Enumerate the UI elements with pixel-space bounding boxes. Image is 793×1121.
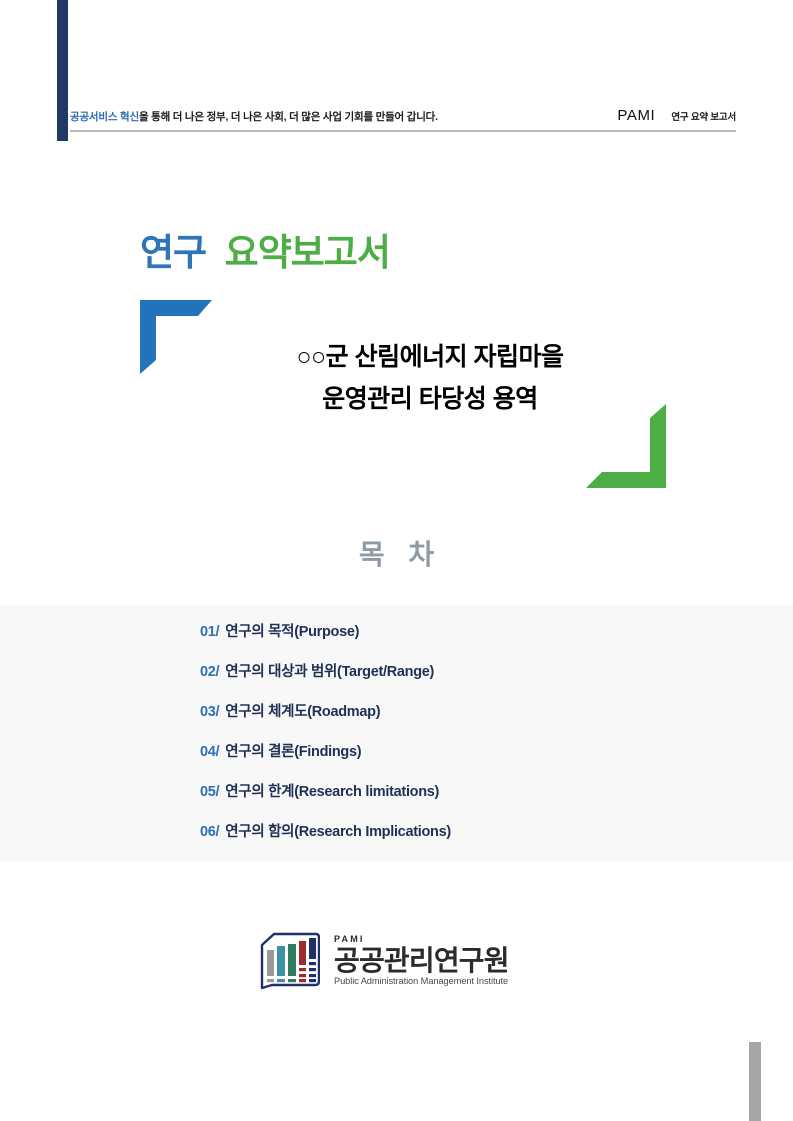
institute-logo-name-ko: 공공관리연구원 xyxy=(334,945,509,976)
header-tagline-highlight: 공공서비스 혁신 xyxy=(70,111,139,123)
toc-item-05[interactable]: 05/ 연구의 한계(Research limitations) xyxy=(200,780,720,820)
toc-item-02[interactable]: 02/ 연구의 대상과 범위(Target/Range) xyxy=(200,660,720,700)
book-shelf-logo-icon xyxy=(258,931,320,991)
header-tagline-rest: 을 통해 더 나은 정부, 더 나은 사회, 더 많은 사업 기회를 만들어 갑… xyxy=(139,111,438,123)
report-cover-page: 공공서비스 혁신을 통해 더 나은 정부, 더 나은 사회, 더 많은 사업 기… xyxy=(0,0,793,1121)
toc-item-01[interactable]: 01/ 연구의 목적(Purpose) xyxy=(200,620,720,660)
institute-logo-text: PAMI 공공관리연구원 Public Administration Manag… xyxy=(334,935,509,987)
toc-item-number: 05/ xyxy=(200,784,219,800)
toc-item-number: 04/ xyxy=(200,744,219,760)
header-divider-rule xyxy=(70,130,736,132)
report-subtitle-line-1: ○○군 산림에너지 자립마을 xyxy=(200,336,660,378)
toc-item-number: 06/ xyxy=(200,824,219,840)
institute-logo: PAMI 공공관리연구원 Public Administration Manag… xyxy=(258,927,538,995)
toc-item-number: 03/ xyxy=(200,704,219,720)
header-brand: PAMI xyxy=(617,107,655,124)
toc-item-label: 연구의 대상과 범위(Target/Range) xyxy=(225,660,434,681)
header-tagline: 공공서비스 혁신을 통해 더 나은 정부, 더 나은 사회, 더 많은 사업 기… xyxy=(70,109,438,124)
header-document-type: 연구 요약 보고서 xyxy=(671,109,736,123)
toc-item-06[interactable]: 06/ 연구의 함의(Research Implications) xyxy=(200,820,720,860)
institute-logo-acronym: PAMI xyxy=(334,935,509,945)
toc-item-03[interactable]: 03/ 연구의 체계도(Roadmap) xyxy=(200,700,720,740)
page-title-green-segment: 요약보고서 xyxy=(225,232,390,273)
toc-item-number: 01/ xyxy=(200,624,219,640)
toc-item-number: 02/ xyxy=(200,664,219,680)
page-edge-tab xyxy=(749,1042,761,1121)
institute-logo-name-en: Public Administration Management Institu… xyxy=(334,976,509,987)
page-title: 연구 요약보고서 xyxy=(140,234,390,271)
header-right-group: PAMI 연구 요약 보고서 xyxy=(617,107,736,124)
toc-item-label: 연구의 함의(Research Implications) xyxy=(225,820,451,841)
toc-list: 01/ 연구의 목적(Purpose) 02/ 연구의 대상과 범위(Targe… xyxy=(200,620,720,860)
toc-heading: 목 차 xyxy=(0,533,793,573)
header-accent-bar xyxy=(57,0,68,141)
page-title-blue-segment: 연구 xyxy=(140,232,206,273)
toc-item-04[interactable]: 04/ 연구의 결론(Findings) xyxy=(200,740,720,780)
header: 공공서비스 혁신을 통해 더 나은 정부, 더 나은 사회, 더 많은 사업 기… xyxy=(70,107,736,127)
toc-item-label: 연구의 결론(Findings) xyxy=(225,740,361,761)
toc-item-label: 연구의 체계도(Roadmap) xyxy=(225,700,380,721)
toc-item-label: 연구의 한계(Research limitations) xyxy=(225,780,439,801)
toc-item-label: 연구의 목적(Purpose) xyxy=(225,620,359,641)
corner-bracket-green-icon xyxy=(586,404,666,488)
